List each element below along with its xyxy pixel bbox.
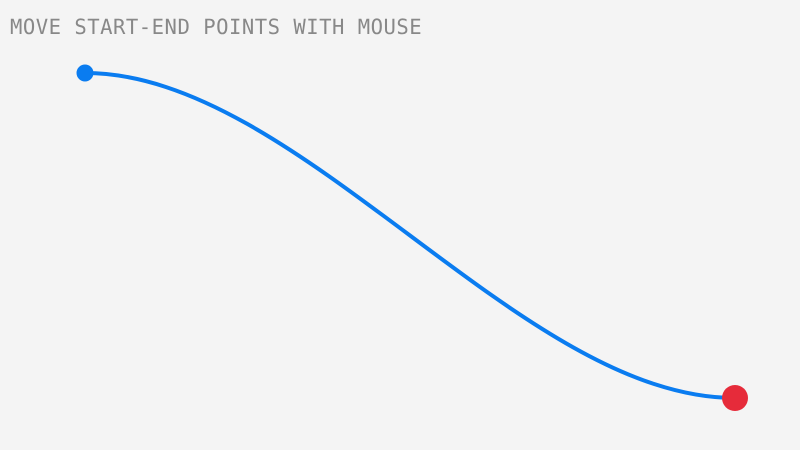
bezier-curve-canvas[interactable]: MOVE START-END POINTS WITH MOUSE [0, 0, 800, 450]
app-root: MOVE START-END POINTS WITH MOUSE [0, 0, 800, 450]
end-point-handle[interactable] [722, 385, 748, 411]
curve-scene-svg [0, 0, 800, 450]
start-point-handle[interactable] [77, 65, 94, 82]
page-title: MOVE START-END POINTS WITH MOUSE [10, 14, 422, 40]
canvas-background [0, 0, 800, 450]
